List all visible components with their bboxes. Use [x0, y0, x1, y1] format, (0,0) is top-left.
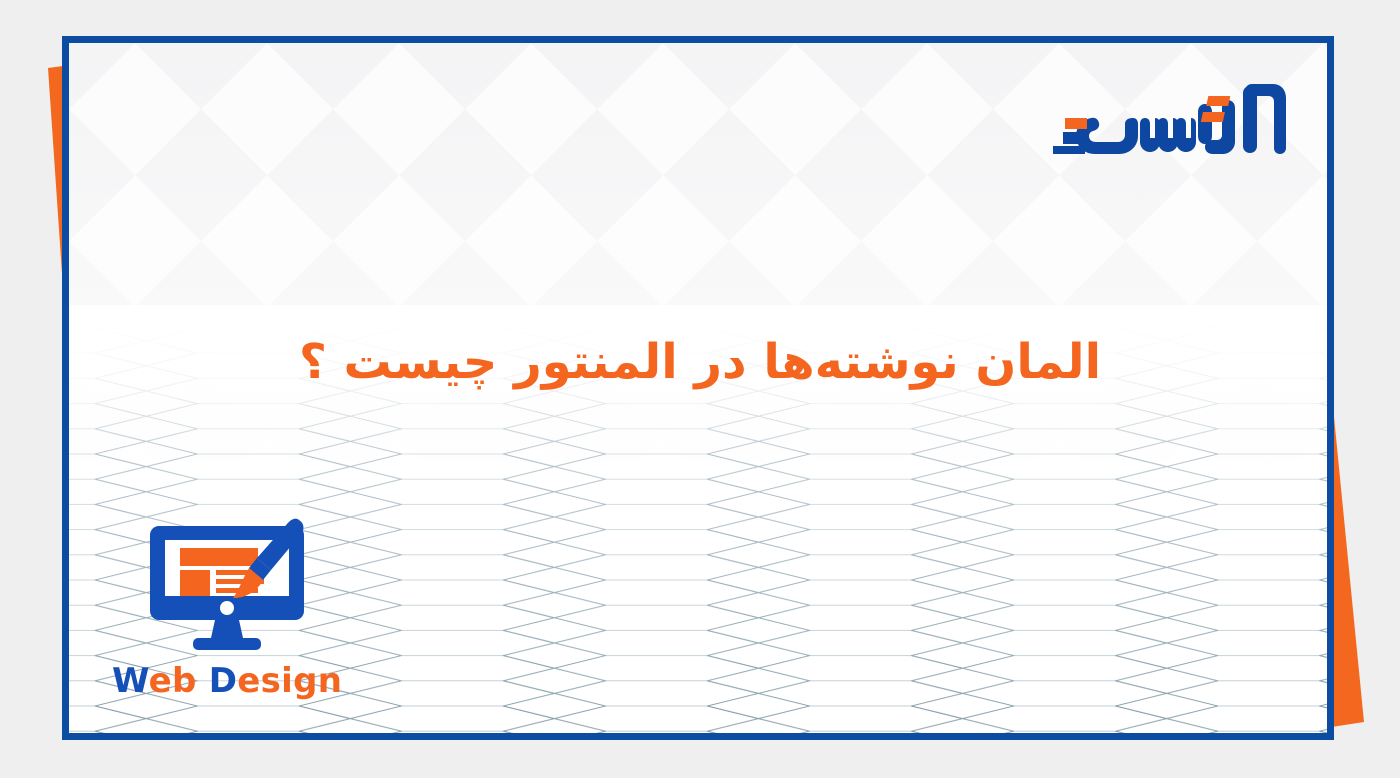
page-title: المان نوشته‌ها در المنتور چیست ؟: [0, 332, 1400, 392]
monitor-paintbrush-icon: [147, 518, 307, 653]
web-design-badge: Web Design: [112, 518, 342, 701]
label-segment-2: eb: [149, 661, 197, 701]
web-design-label: Web Design: [112, 661, 342, 701]
label-segment-4: esign: [237, 661, 342, 701]
label-segment-3: D: [209, 661, 238, 701]
label-segment-space: [197, 661, 209, 701]
brand-logo[interactable]: [1045, 74, 1290, 174]
label-segment-1: W: [112, 661, 149, 701]
banner-canvas: المان نوشته‌ها در المنتور چیست ؟: [0, 0, 1400, 778]
